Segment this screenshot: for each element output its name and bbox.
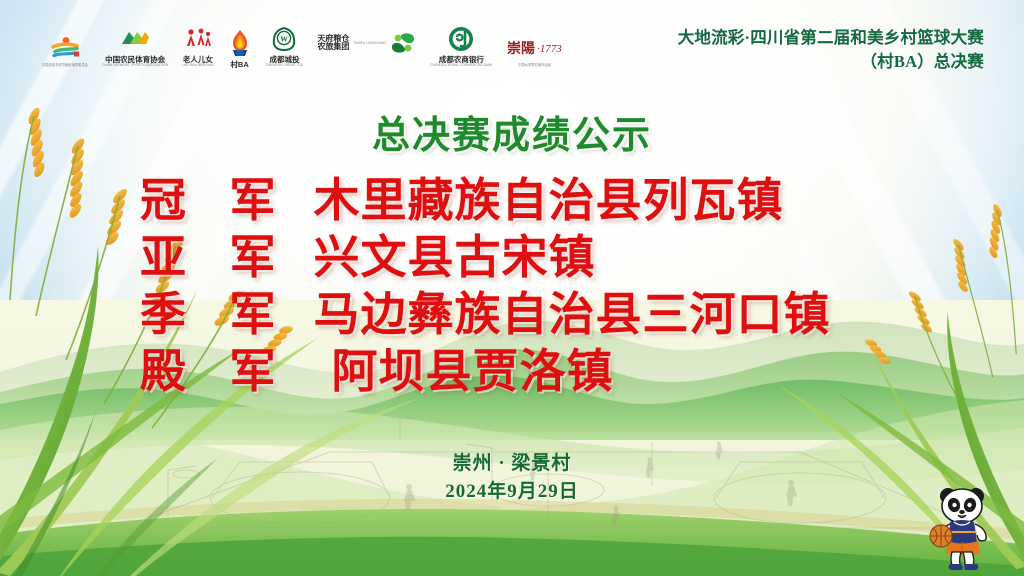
sponsor-laoren-sub: LAO REN WEN HUA [182, 64, 213, 68]
sponsor-farmers-sports-cn: 中国农民体育协会 [105, 56, 165, 64]
rank-label-3: 季 军 [140, 286, 292, 343]
result-row-champion: 冠 军 木里藏族自治县列瓦镇 [0, 172, 1024, 229]
event-title: 大地流彩·四川省第二届和美乡村篮球大赛 （村BA）总决赛 [678, 26, 984, 74]
svg-text:·1773: ·1773 [537, 43, 562, 55]
event-title-line1: 大地流彩·四川省第二届和美乡村篮球大赛 [678, 26, 984, 50]
sponsor-chengdu-wenlv-cn: 成都城投 [269, 56, 299, 64]
footer-date: 2024年9月29日 [0, 478, 1024, 506]
sponsor-logo-bar: 中国农民丰收节组织指导委员会 中国农民体育协会 CHINA FARMERS' S… [42, 16, 563, 68]
sponsor-chongyang-1773: 崇陽 ·1773 中国水草香白酒开创者 [507, 18, 563, 68]
sponsor-cdrcb-sub: CHENGDU RURAL COMMERCIAL BANK [430, 64, 493, 68]
team-name-1: 木里藏族自治县列瓦镇 [314, 172, 784, 229]
team-name-2: 兴文县古宋镇 [314, 229, 596, 286]
wreath-mark-icon: W [270, 24, 298, 54]
team-name-3: 马边彝族自治县三河口镇 [314, 286, 831, 343]
runner-mark-icon [50, 33, 80, 63]
sponsor-laoren-wenhua: 老人儿女 LAO REN WEN HUA [182, 18, 213, 68]
page-title: 总决赛成绩公示 [0, 104, 1024, 159]
results-list: 冠 军 木里藏族自治县列瓦镇 亚 军 兴文县古宋镇 季 军 马边彝族自治县三河口… [0, 172, 1024, 400]
sponsor-chengdu-wenlv-sub: CHENGDU CHENG TOU [266, 64, 304, 68]
rank-label-2: 亚 军 [140, 229, 292, 286]
result-row-runner-up: 亚 军 兴文县古宋镇 [0, 229, 1024, 286]
sponsor-cdrcb: 成都农商银行 CHENGDU RURAL COMMERCIAL BANK [430, 18, 493, 68]
sponsor-tianfu-cn-2: 农旅集团 [317, 43, 349, 51]
sponsor-laoren-cn: 老人儿女 [183, 56, 213, 64]
panda-basketball-mascot-icon [924, 484, 1002, 572]
torch-mark-icon [228, 29, 252, 59]
bank-a-mark-icon [448, 24, 474, 54]
sponsor-farmers-sports-sub: CHINA FARMERS' SPORTS ASSOCIATION [102, 64, 168, 68]
event-title-line2: （村BA）总决赛 [678, 50, 984, 74]
people-red-mark-icon [184, 24, 212, 54]
rank-label-1: 冠 军 [140, 172, 292, 229]
svg-text:W: W [281, 34, 289, 43]
team-name-4: 阿坝县贾洛镇 [332, 343, 614, 400]
poster-canvas: 中国农民丰收节组织指导委员会 中国农民体育协会 CHINA FARMERS' S… [0, 0, 1024, 576]
sponsor-torch-cn: 村BA [230, 61, 248, 69]
sponsor-tianfu-sub: TIANFU LIANGCANG [353, 42, 386, 46]
sponsor-chengdu-wenlv: W 成都城投 CHENGDU CHENG TOU [266, 18, 304, 68]
svg-text:崇陽: 崇陽 [507, 40, 535, 57]
result-row-third: 季 军 马边彝族自治县三河口镇 [0, 286, 1024, 343]
chevrons-mark-icon [120, 24, 150, 54]
green-knot-mark-icon [390, 28, 416, 58]
footer-venue: 崇州 · 梁景村 [0, 450, 1024, 478]
rank-label-4: 殿 军 [140, 343, 292, 400]
sponsor-agri-culture-sub: 中国农民丰收节组织指导委员会 [42, 64, 88, 68]
sponsor-farmers-sports: 中国农民体育协会 CHINA FARMERS' SPORTS ASSOCIATI… [102, 18, 168, 68]
sponsor-chongyang-sub: 中国水草香白酒开创者 [518, 64, 551, 68]
liquor-mark-icon: 崇陽 ·1773 [507, 33, 563, 63]
result-row-fourth: 殿 军 阿坝县贾洛镇 [0, 343, 1024, 400]
sponsor-tianfu-liangcang: 天府粮仓 农旅集团 TIANFU LIANGCANG [317, 18, 416, 68]
sponsor-torch: 村BA [228, 18, 252, 68]
footer-block: 崇州 · 梁景村 2024年9月29日 [0, 450, 1024, 505]
sponsor-cdrcb-cn: 成都农商银行 [439, 56, 484, 64]
sponsor-agri-culture: 中国农民丰收节组织指导委员会 [42, 18, 88, 68]
